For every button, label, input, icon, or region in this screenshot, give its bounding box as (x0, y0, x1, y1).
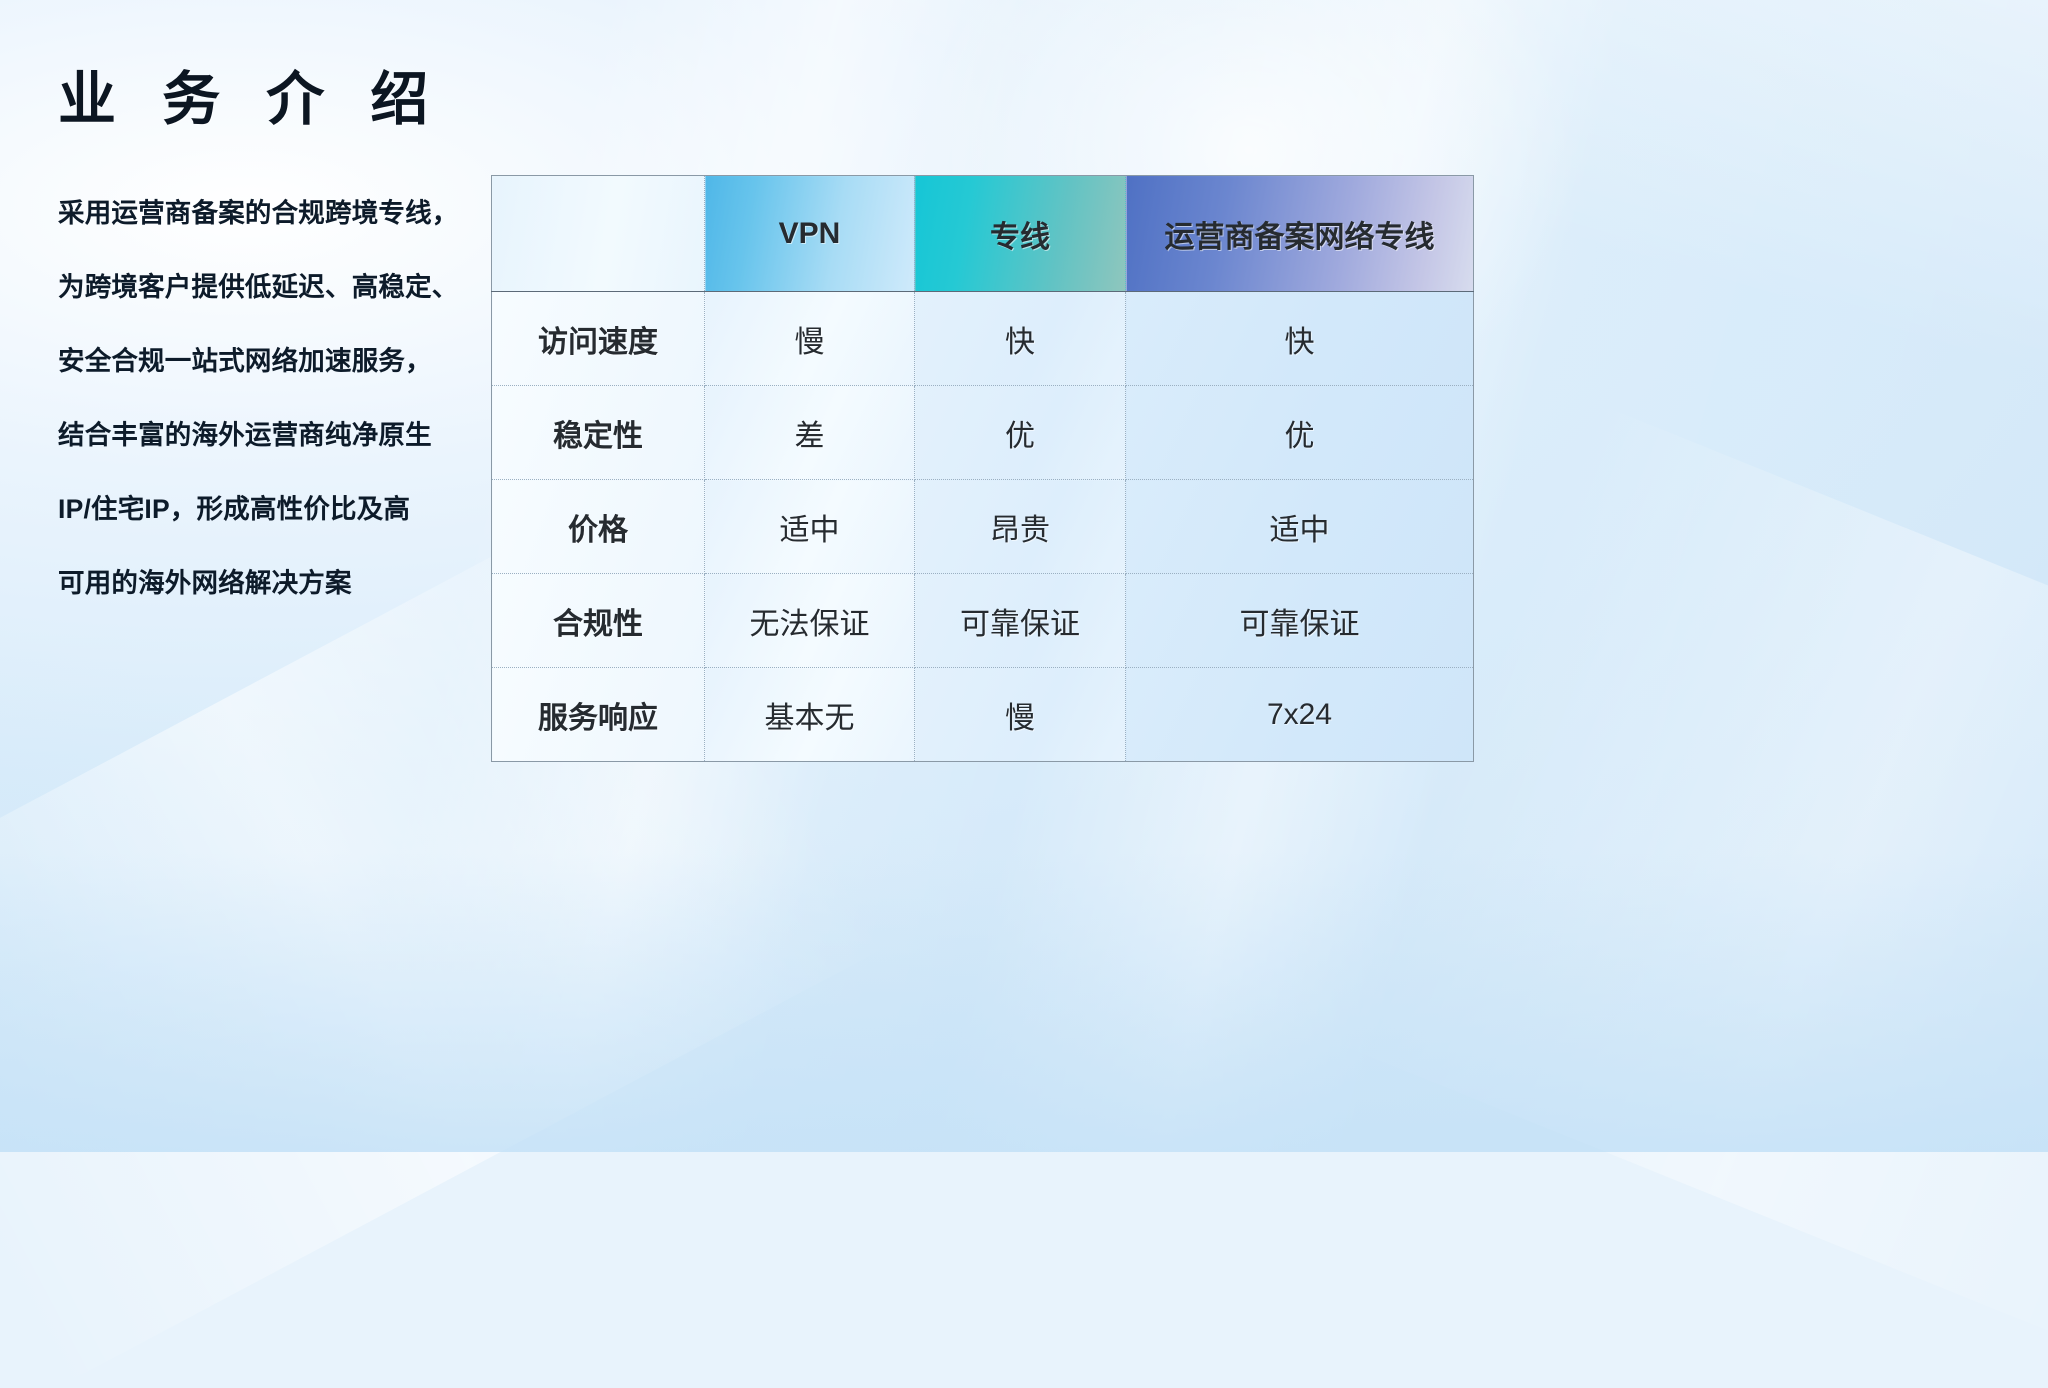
cell-line-compliance: 可靠保证 (915, 574, 1126, 668)
cell-line-stability: 优 (915, 386, 1126, 480)
cell-carrier-access-speed: 快 (1126, 292, 1474, 386)
cell-carrier-compliance: 可靠保证 (1126, 574, 1474, 668)
cell-carrier-price: 适中 (1126, 480, 1474, 574)
table-row: 访问速度 慢 快 快 (492, 292, 1474, 386)
header-cell-carrier-line: 运营商备案网络专线 (1126, 176, 1474, 292)
cell-carrier-stability: 优 (1126, 386, 1474, 480)
cell-carrier-service-response: 7x24 (1126, 668, 1474, 762)
cell-line-price: 昂贵 (915, 480, 1126, 574)
table-row: 价格 适中 昂贵 适中 (492, 480, 1474, 574)
intro-line-5: IP/住宅IP，形成高性价比及高 (58, 472, 528, 546)
comparison-table: VPN 专线 运营商备案网络专线 访问速度 慢 快 快 稳定性 差 优 优 价格… (491, 175, 1474, 762)
cell-line-service-response: 慢 (915, 668, 1126, 762)
cell-vpn-service-response: 基本无 (705, 668, 915, 762)
header-cell-dedicated-line: 专线 (915, 176, 1126, 292)
header-cell-vpn: VPN (705, 176, 915, 292)
row-label-access-speed: 访问速度 (492, 292, 705, 386)
row-label-stability: 稳定性 (492, 386, 705, 480)
intro-line-3: 安全合规一站式网络加速服务， (58, 324, 528, 398)
intro-paragraph: 采用运营商备案的合规跨境专线， 为跨境客户提供低延迟、高稳定、 安全合规一站式网… (58, 176, 528, 620)
intro-line-6: 可用的海外网络解决方案 (58, 546, 528, 620)
table-row: 稳定性 差 优 优 (492, 386, 1474, 480)
cell-vpn-access-speed: 慢 (705, 292, 915, 386)
page-title: 业 务 介 绍 (58, 52, 443, 136)
table-header-row: VPN 专线 运营商备案网络专线 (492, 176, 1474, 292)
row-label-service-response: 服务响应 (492, 668, 705, 762)
table-row: 服务响应 基本无 慢 7x24 (492, 668, 1474, 762)
intro-line-1: 采用运营商备案的合规跨境专线， (58, 176, 528, 250)
row-label-price: 价格 (492, 480, 705, 574)
slide-content: 业 务 介 绍 采用运营商备案的合规跨境专线， 为跨境客户提供低延迟、高稳定、 … (0, 0, 2048, 1152)
intro-line-2: 为跨境客户提供低延迟、高稳定、 (58, 250, 528, 324)
intro-line-4: 结合丰富的海外运营商纯净原生 (58, 398, 528, 472)
row-label-compliance: 合规性 (492, 574, 705, 668)
cell-vpn-price: 适中 (705, 480, 915, 574)
table-row: 合规性 无法保证 可靠保证 可靠保证 (492, 574, 1474, 668)
header-cell-blank (492, 176, 705, 292)
cell-vpn-stability: 差 (705, 386, 915, 480)
cell-vpn-compliance: 无法保证 (705, 574, 915, 668)
cell-line-access-speed: 快 (915, 292, 1126, 386)
